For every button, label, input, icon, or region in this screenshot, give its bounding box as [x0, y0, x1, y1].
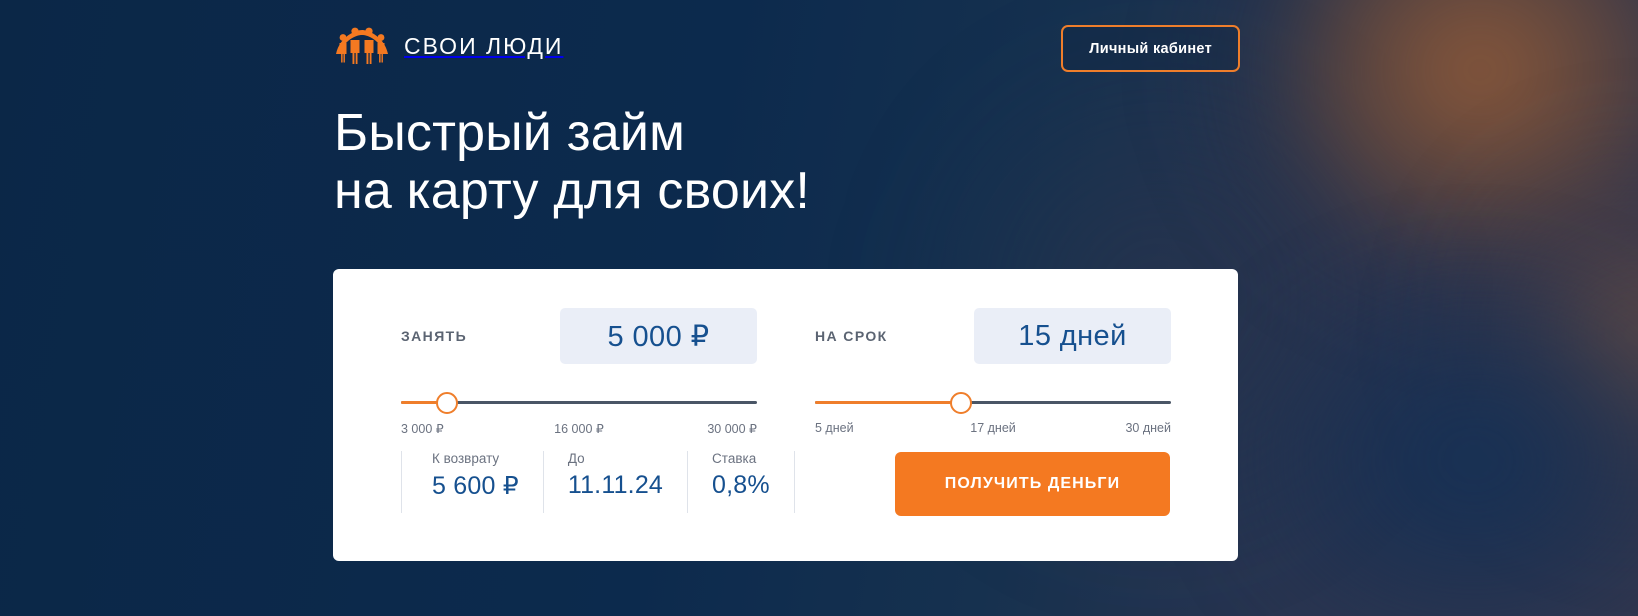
- amount-tick-max: 30 000 ₽: [707, 421, 757, 436]
- page-root: СВОИ ЛЮДИ Личный кабинет Быстрый займ на…: [0, 0, 1638, 616]
- summary-label: К возврату: [432, 451, 519, 466]
- term-slider-block: НА СРОК 15 дней 5 дней 17 дней 30 дней: [815, 308, 1171, 437]
- summary-value: 11.11.24: [568, 471, 663, 500]
- term-slider-ticks: 5 дней 17 дней 30 дней: [815, 421, 1171, 437]
- summary-value: 0,8%: [712, 471, 770, 500]
- amount-label: ЗАНЯТЬ: [401, 328, 467, 344]
- loan-summary-row: К возврату5 600 ₽До11.11.24Ставка0,8%: [401, 451, 795, 513]
- term-slider-fill: [815, 401, 961, 404]
- logo[interactable]: СВОИ ЛЮДИ: [334, 26, 563, 66]
- amount-slider-ticks: 3 000 ₽ 16 000 ₽ 30 000 ₽: [401, 421, 757, 437]
- summary-label: До: [568, 451, 663, 466]
- summary-cell: До11.11.24: [543, 451, 687, 513]
- summary-cell: Ставка0,8%: [687, 451, 795, 513]
- term-tick-mid: 17 дней: [970, 421, 1016, 435]
- term-label: НА СРОК: [815, 328, 888, 344]
- amount-slider[interactable]: [401, 392, 757, 414]
- amount-tick-min: 3 000 ₽: [401, 421, 444, 436]
- amount-slider-block: ЗАНЯТЬ 5 000 ₽ 3 000 ₽ 16 000 ₽ 30 000 ₽: [401, 308, 757, 437]
- amount-slider-head: ЗАНЯТЬ 5 000 ₽: [401, 308, 757, 364]
- term-slider-head: НА СРОК 15 дней: [815, 308, 1171, 364]
- term-value-input[interactable]: 15 дней: [974, 308, 1171, 364]
- sliders-row: ЗАНЯТЬ 5 000 ₽ 3 000 ₽ 16 000 ₽ 30 000 ₽: [333, 308, 1238, 437]
- summary-label: Ставка: [712, 451, 770, 466]
- summary-cell: К возврату5 600 ₽: [401, 451, 543, 513]
- get-money-button[interactable]: ПОЛУЧИТЬ ДЕНЬГИ: [895, 452, 1170, 516]
- hero-title: Быстрый займ на карту для своих!: [334, 104, 810, 220]
- site-header: СВОИ ЛЮДИ Личный кабинет: [0, 0, 1638, 96]
- term-slider[interactable]: [815, 392, 1171, 414]
- amount-value-input[interactable]: 5 000 ₽: [560, 308, 757, 364]
- people-group-icon: [334, 26, 390, 66]
- amount-tick-mid: 16 000 ₽: [554, 421, 604, 436]
- personal-account-button[interactable]: Личный кабинет: [1061, 25, 1240, 72]
- amount-slider-knob[interactable]: [436, 392, 458, 414]
- term-slider-knob[interactable]: [950, 392, 972, 414]
- loan-calculator-card: ЗАНЯТЬ 5 000 ₽ 3 000 ₽ 16 000 ₽ 30 000 ₽: [333, 269, 1238, 561]
- summary-value: 5 600 ₽: [432, 471, 519, 501]
- logo-text: СВОИ ЛЮДИ: [404, 33, 563, 60]
- term-tick-max: 30 дней: [1125, 421, 1171, 435]
- term-tick-min: 5 дней: [815, 421, 854, 435]
